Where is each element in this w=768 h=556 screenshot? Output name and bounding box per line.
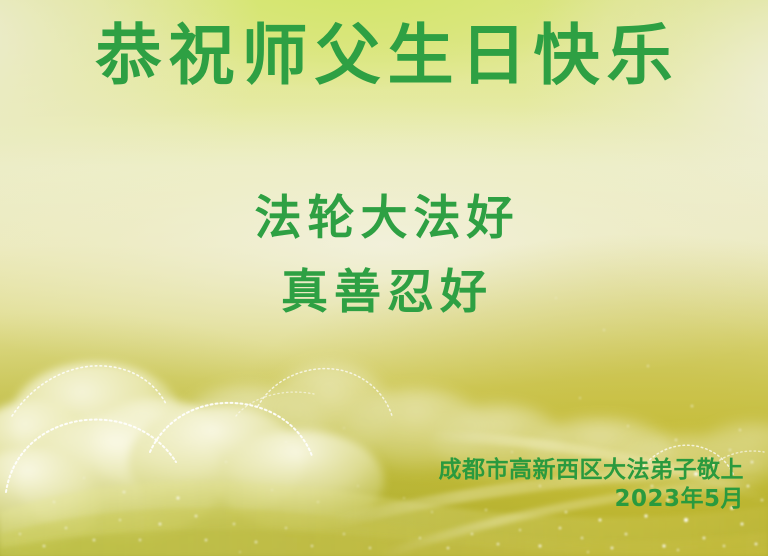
greeting-poster: 恭祝师父生日快乐 法轮大法好 真善忍好 成都市高新西区大法弟子敬上 2023年5… (0, 0, 768, 556)
verse-block: 法轮大法好 真善忍好 (0, 182, 768, 331)
page-title: 恭祝师父生日快乐 (0, 18, 768, 94)
verse-line-2: 真善忍好 (0, 256, 768, 330)
signature-date: 2023年5月 (439, 485, 745, 514)
verse-line-1: 法轮大法好 (0, 182, 768, 256)
signature-block: 成都市高新西区大法弟子敬上 2023年5月 (439, 456, 745, 515)
signature-sender: 成都市高新西区大法弟子敬上 (439, 456, 745, 485)
poster-text-layer: 恭祝师父生日快乐 法轮大法好 真善忍好 成都市高新西区大法弟子敬上 2023年5… (0, 0, 768, 556)
